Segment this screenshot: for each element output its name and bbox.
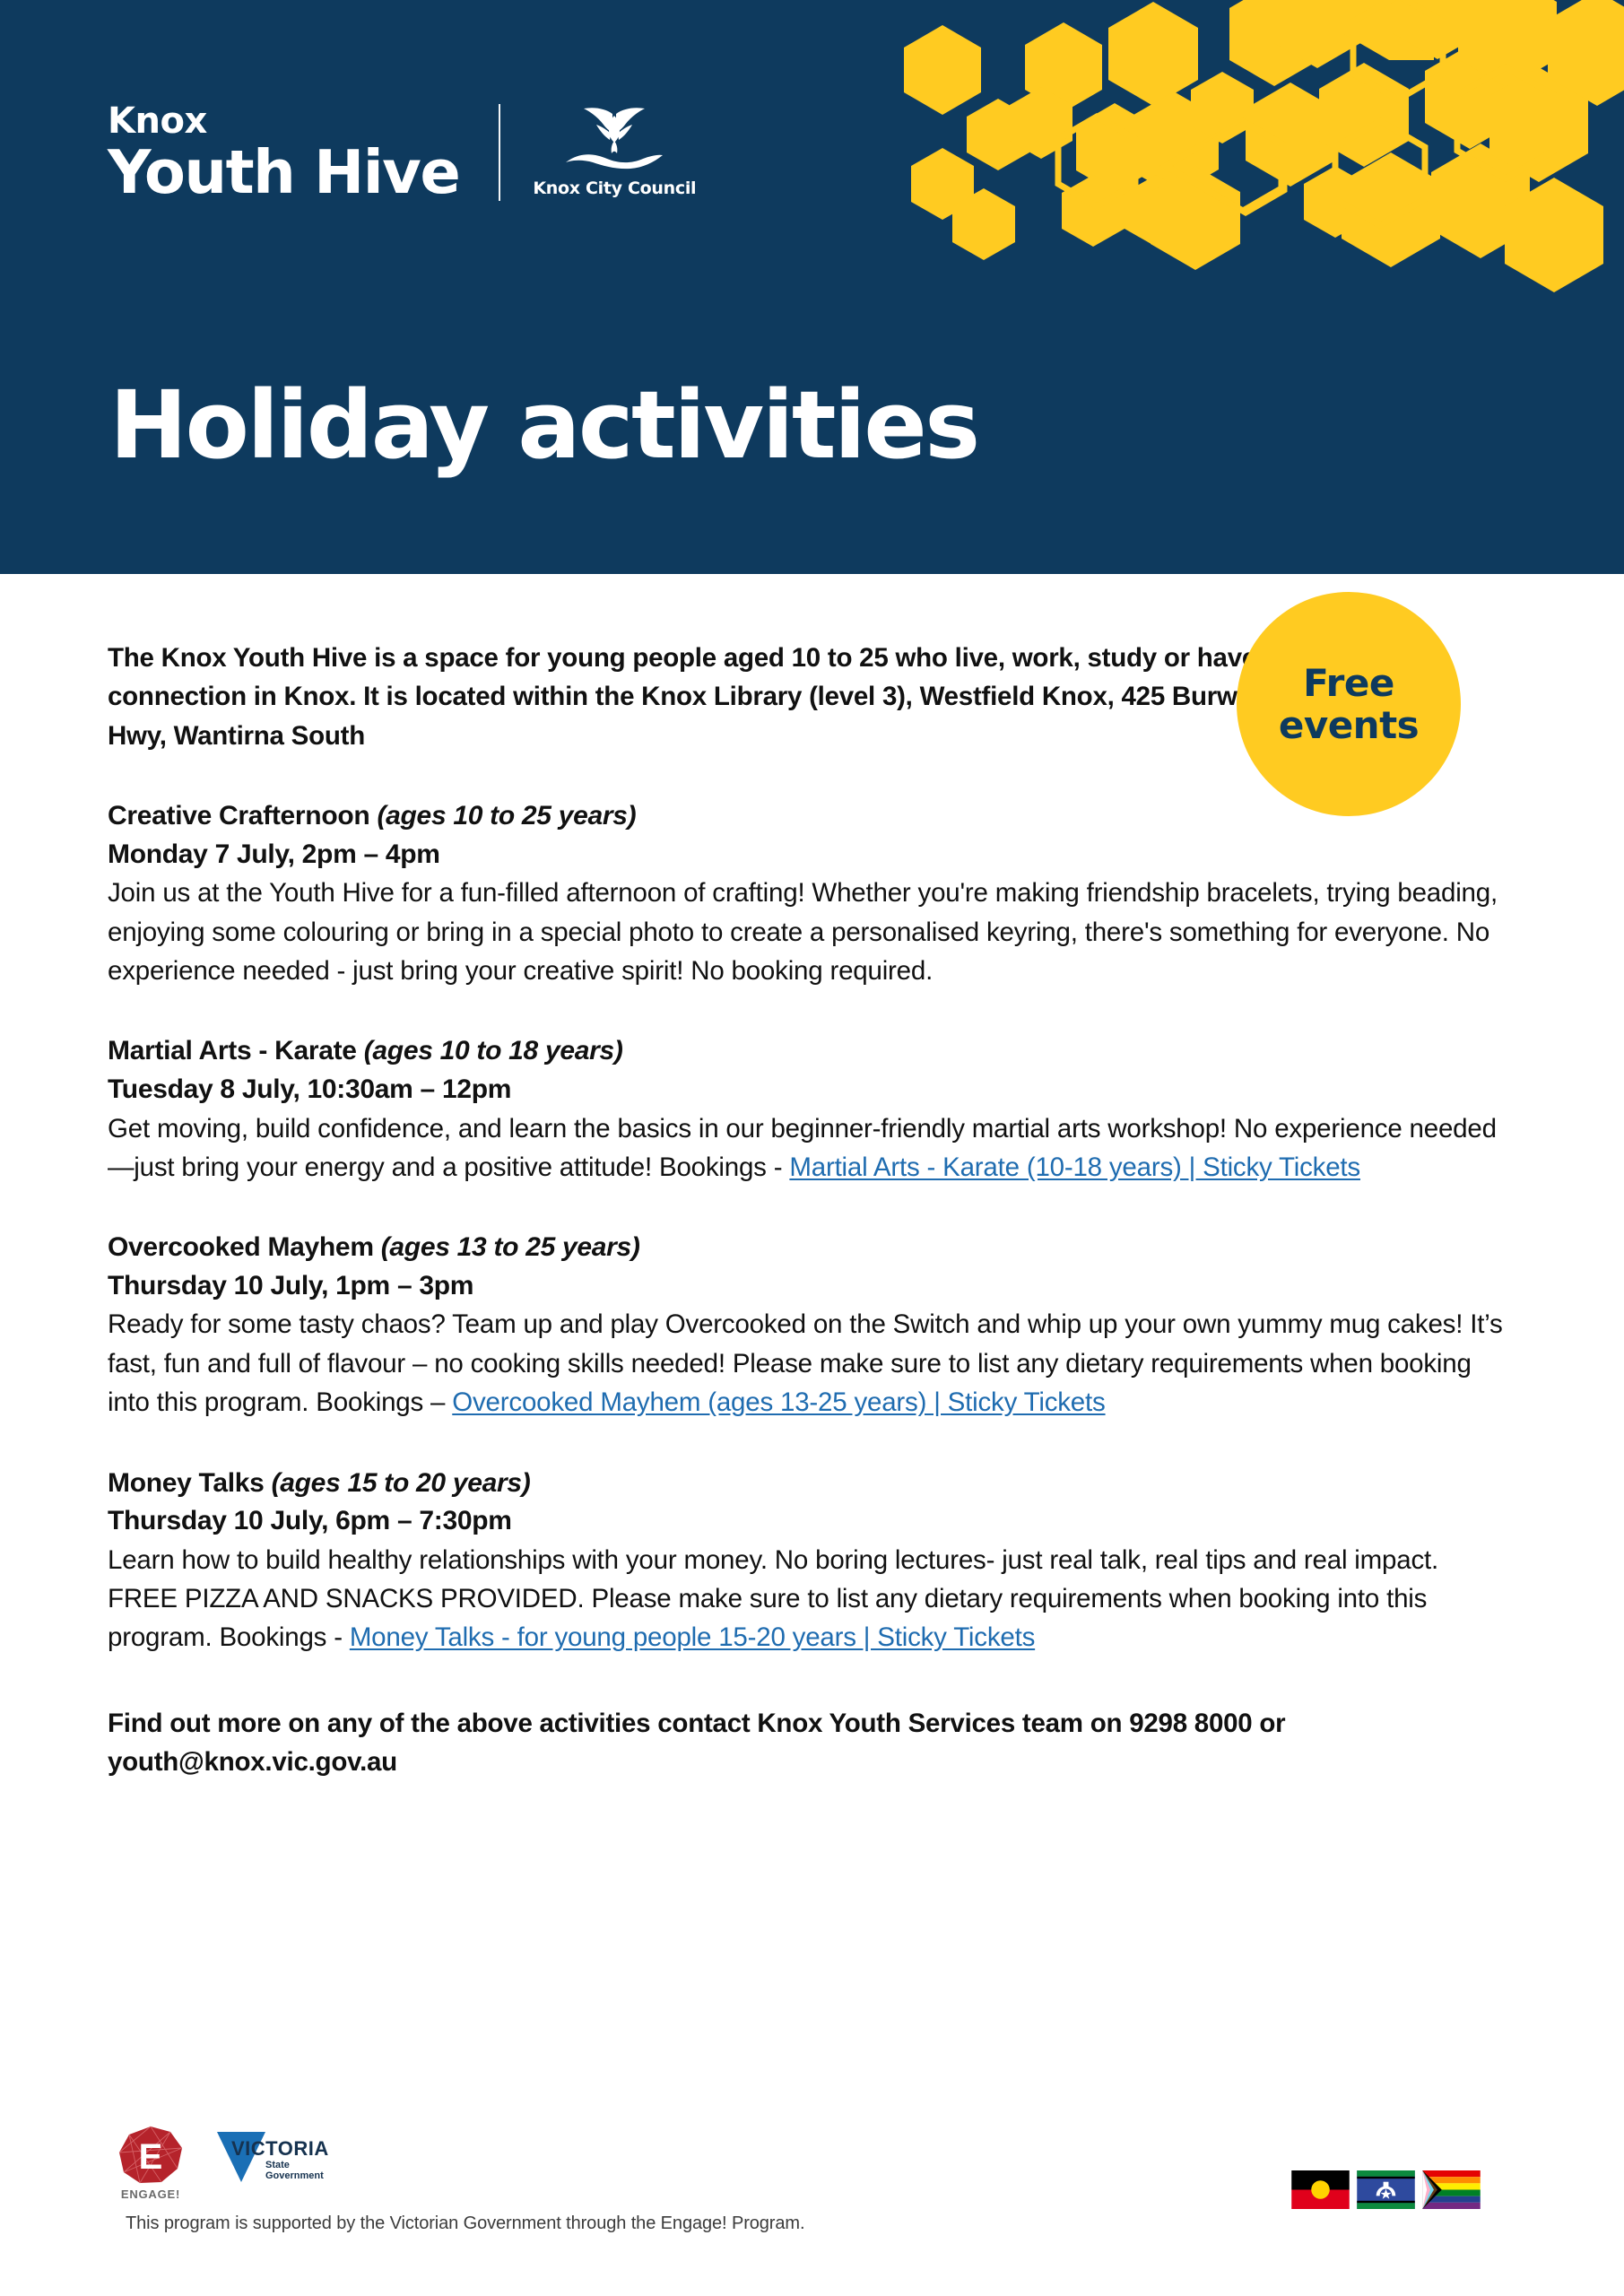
main-content: The Knox Youth Hive is a space for young…	[0, 574, 1624, 1782]
footer-logo-group: E ENGAGE! VICTORIA State Government	[115, 2126, 335, 2201]
logo-knox-text: Knox	[108, 103, 459, 139]
activity-name: Overcooked Mayhem	[108, 1232, 381, 1262]
engage-caption: ENGAGE!	[121, 2187, 180, 2201]
page-title: Holiday activities	[109, 377, 978, 474]
honeycomb-decoration	[889, 0, 1624, 359]
activity-description: Get moving, build confidence, and learn …	[108, 1109, 1507, 1187]
activity-datetime: Monday 7 July, 2pm – 4pm	[108, 836, 1516, 874]
victoria-state-government-logo: VICTORIA State Government	[210, 2128, 335, 2187]
engage-logo: E ENGAGE!	[115, 2126, 187, 2201]
svg-text:VICTORIA: VICTORIA	[231, 2137, 329, 2160]
activity-description: Ready for some tasty chaos? Team up and …	[108, 1305, 1507, 1422]
activity-item: Money Talks (ages 15 to 20 years) Thursd…	[108, 1465, 1516, 1657]
activity-name: Martial Arts - Karate	[108, 1036, 364, 1065]
footer-support-note: This program is supported by the Victori…	[126, 2213, 804, 2234]
svg-text:State: State	[265, 2160, 290, 2170]
activity-datetime: Thursday 10 July, 6pm – 7:30pm	[108, 1502, 1516, 1541]
activity-item: Creative Crafternoon (ages 10 to 25 year…	[108, 797, 1516, 990]
badge-line-2: events	[1279, 704, 1419, 746]
activity-description: Learn how to build healthy relationships…	[108, 1541, 1507, 1657]
activity-item: Overcooked Mayhem (ages 13 to 25 years) …	[108, 1229, 1516, 1422]
activity-description: Join us at the Youth Hive for a fun-fill…	[108, 874, 1507, 990]
svg-text:E: E	[139, 2137, 163, 2177]
footer: E ENGAGE! VICTORIA State Government This…	[0, 2117, 1624, 2296]
activity-ages: (ages 15 to 20 years)	[272, 1468, 531, 1498]
activity-name: Creative Crafternoon	[108, 801, 377, 831]
torres-strait-islander-flag	[1357, 2170, 1415, 2209]
council-name-text: Knox City Council	[533, 178, 696, 198]
eagle-icon	[564, 107, 664, 177]
activity-datetime: Tuesday 8 July, 10:30am – 12pm	[108, 1071, 1516, 1109]
activity-title: Overcooked Mayhem (ages 13 to 25 years)	[108, 1229, 1516, 1267]
booking-link[interactable]: Overcooked Mayhem (ages 13-25 years) | S…	[452, 1387, 1105, 1417]
activity-datetime: Thursday 10 July, 1pm – 3pm	[108, 1267, 1516, 1306]
intro-section: The Knox Youth Hive is a space for young…	[108, 574, 1516, 755]
progress-pride-flag	[1422, 2170, 1481, 2209]
flags-group	[1291, 2170, 1481, 2209]
header-banner: Knox Youth Hive Knox City Council Holida…	[0, 0, 1624, 574]
victoria-icon: VICTORIA State Government	[210, 2128, 335, 2187]
activity-ages: (ages 10 to 18 years)	[364, 1036, 623, 1065]
aboriginal-flag	[1291, 2170, 1350, 2209]
activity-ages: (ages 10 to 25 years)	[377, 801, 636, 831]
activity-title: Martial Arts - Karate (ages 10 to 18 yea…	[108, 1032, 1516, 1071]
intro-paragraph: The Knox Youth Hive is a space for young…	[108, 639, 1291, 755]
booking-link[interactable]: Martial Arts - Karate (10-18 years) | St…	[789, 1152, 1360, 1182]
activity-title: Money Talks (ages 15 to 20 years)	[108, 1465, 1516, 1503]
booking-link[interactable]: Money Talks - for young people 15-20 yea…	[350, 1622, 1035, 1652]
badge-line-1: Free	[1303, 662, 1394, 704]
knox-city-council-logo: Knox City Council	[533, 107, 696, 198]
svg-text:Government: Government	[265, 2170, 324, 2181]
logo-youth-hive-text: Youth Hive	[108, 143, 459, 203]
engage-icon: E	[118, 2126, 183, 2185]
activity-name: Money Talks	[108, 1468, 272, 1498]
knox-youth-hive-logo: Knox Youth Hive Knox City Council	[108, 99, 696, 206]
contact-paragraph: Find out more on any of the above activi…	[108, 1704, 1471, 1782]
logo-wordmark: Knox Youth Hive	[108, 103, 459, 203]
activity-item: Martial Arts - Karate (ages 10 to 18 yea…	[108, 1032, 1516, 1187]
logo-divider	[499, 104, 500, 201]
free-events-badge: Free events	[1237, 592, 1461, 816]
activity-ages: (ages 13 to 25 years)	[381, 1232, 640, 1262]
activity-description-text: Join us at the Youth Hive for a fun-fill…	[108, 878, 1498, 986]
